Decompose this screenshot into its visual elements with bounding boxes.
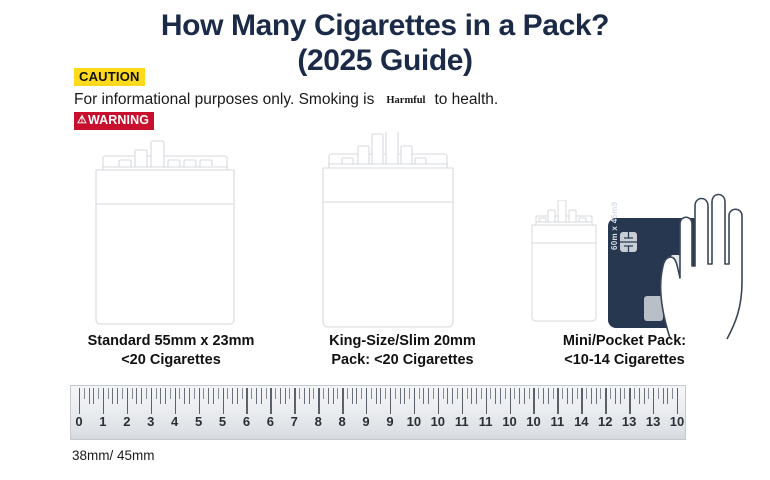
ruler-tick-minor [132,388,133,399]
ruler-tick-minor [447,388,448,404]
ruler-tick-major [223,388,224,414]
ruler-tick-minor [419,388,420,399]
ruler-tick-minor [242,388,243,399]
ruler-tick-minor [481,388,482,399]
ruler-tick-label: 5 [195,414,202,429]
caption-king-size-line1: King-Size/Slim 20mm [290,332,515,351]
disclaimer-before: For informational purposes only. Smoking… [74,91,374,108]
ruler-tick-minor [112,388,113,404]
caption-standard: Standard 55mm x 23mm <20 Cigarettes [46,332,296,370]
ruler-tick-minor [184,388,185,404]
ruler-tick-minor [108,388,109,399]
ruler-tick-minor [213,388,214,404]
ruler-tick-minor [237,388,238,404]
ruler-tick-major [79,388,80,414]
ruler-tick-minor [586,388,587,399]
ruler-tick-minor [170,388,171,399]
warning-triangle-icon: ⚠ [77,115,87,126]
ruler-tick-major [605,388,606,414]
ruler-tick-minor [122,388,123,399]
ruler-tick-label: 10 [407,414,421,429]
caption-king-size-line2: Pack: <20 Cigarettes [290,351,515,370]
ruler-tick-minor [471,388,472,404]
ruler-tick-minor [596,388,597,404]
ruler-tick-minor [524,388,525,404]
ruler-tick-major [318,388,319,414]
ruler-tick-minor [409,388,410,399]
caption-mini-line2: <10-14 Cigarettes [512,351,737,370]
warning-badge: ⚠WARNING [74,112,154,130]
ruler-tick-minor [347,388,348,399]
ruler-tick-minor [361,388,362,399]
ruler-tick-minor [256,388,257,404]
ruler-tick-label: 1 [99,414,106,429]
caution-badge: CAUTION [74,68,145,86]
ruler-tick-minor [433,388,434,399]
ruler-tick-minor [313,388,314,399]
disclaimer-emphasis: Harmful [374,95,434,106]
ruler-tick-major [510,388,511,414]
ruler-tick-minor [452,388,453,404]
disclaimer-after: to health. [434,91,498,108]
ruler-tick-label: 9 [386,414,393,429]
ruler-tick-minor [667,388,668,404]
ruler-tick-label: 0 [75,414,82,429]
ruler-tick-minor [663,388,664,404]
ruler-tick-label: 8 [338,414,345,429]
ruler-tick-major [557,388,558,414]
ruler-tick-major [462,388,463,414]
ruler-tick-major [294,388,295,414]
ruler-tick-minor [189,388,190,404]
ruler-tick-minor [538,388,539,399]
ruler-unit-note: 38mm/ 45mm [72,448,155,463]
ruler-tick-minor [299,388,300,399]
ruler-tick-minor [620,388,621,404]
ruler-tick-minor [672,388,673,399]
ruler-tick-minor [141,388,142,404]
ruler-tick-major [270,388,271,414]
ruler-tick-major [677,388,678,414]
ruler-tick-minor [648,388,649,399]
ruler-tick-label: 5 [219,414,226,429]
ruler-tick-minor [309,388,310,404]
ruler-tick-minor [117,388,118,404]
ruler-tick-label: 4 [171,414,178,429]
pack-illustration-standard [84,140,246,335]
ruler-tick-major [414,388,415,414]
ruler-tick-label: 14 [574,414,588,429]
ruler-tick-major [246,388,247,414]
ruler-tick-minor [404,388,405,404]
ruler-tick-minor [352,388,353,404]
ruler-tick-minor [266,388,267,399]
ruler-tick-minor [615,388,616,404]
ruler-tick-minor [423,388,424,404]
ruler-tick-minor [89,388,90,404]
ruler-tick-minor [505,388,506,399]
ruler-tick-major [533,388,534,414]
ruler-tick-minor [500,388,501,404]
ruler-tick-label: 7 [291,414,298,429]
ruler-tick-label: 10 [502,414,516,429]
ruler-tick-major [581,388,582,414]
ruler-tick-minor [208,388,209,404]
ruler-tick-minor [553,388,554,399]
ruler-tick-minor [261,388,262,404]
ruler-tick-minor [376,388,377,404]
ruler-tick-minor [600,388,601,399]
ruler-tick-major [342,388,343,414]
ruler-tick-minor [275,388,276,399]
ruler-tick-minor [610,388,611,399]
ruler-tick-major [127,388,128,414]
ruler-tick-major [175,388,176,414]
ruler-tick-minor [591,388,592,404]
ruler-tick-minor [567,388,568,404]
ruler-tick-label: 11 [479,414,493,429]
pack-illustration-king-size [318,132,458,337]
ruler-tick-minor [304,388,305,404]
ruler-tick-minor [634,388,635,399]
ruler-tick-major [486,388,487,414]
ruler-tick-minor [160,388,161,404]
ruler-tick-label: 10 [431,414,445,429]
ruler-tick-minor [644,388,645,404]
ruler-tick-label: 6 [267,414,274,429]
ruler-tick-minor [443,388,444,399]
ruler-tick-major [103,388,104,414]
ruler-tick-minor [194,388,195,399]
ruler-tick-minor [356,388,357,404]
caption-standard-line2: <20 Cigarettes [46,351,296,370]
ruler-tick-major [366,388,367,414]
ruler-tick-label: 8 [315,414,322,429]
ruler-tick-major [151,388,152,414]
disclaimer-text: For informational purposes only. Smoking… [74,90,498,110]
card-dimension-label: 60m x 45m9 [610,202,619,250]
ruler-tick-label: 3 [147,414,154,429]
ruler-tick-minor [337,388,338,399]
ruler-tick-minor [165,388,166,404]
caption-standard-line1: Standard 55mm x 23mm [46,332,296,351]
ruler-tick-major [390,388,391,414]
ruler-tick-minor [371,388,372,399]
ruler-tick-major [653,388,654,414]
caption-king-size: King-Size/Slim 20mm Pack: <20 Cigarettes [290,332,515,370]
ruler-tick-minor [490,388,491,399]
ruler-tick-label: 12 [598,414,612,429]
ruler-tick-label: 10 [670,414,684,429]
ruler-tick-minor [251,388,252,399]
ruler-tick-minor [624,388,625,399]
infographic-page: How Many Cigarettes in a Pack? (2025 Gui… [0,0,770,480]
ruler-tick-minor [156,388,157,399]
ruler-tick-minor [323,388,324,399]
caption-mini-line1: Mini/Pocket Pack: [512,332,737,351]
ruler-tick-minor [218,388,219,399]
ruler-tick-minor [467,388,468,399]
ruler-tick-label: 11 [455,414,469,429]
ruler-tick-minor [519,388,520,404]
ruler-tick-minor [543,388,544,404]
ruler-tick-minor [333,388,334,404]
ruler-tick-minor [577,388,578,399]
title-line-1: How Many Cigarettes in a Pack? [0,8,770,43]
ruler-tick-minor [572,388,573,404]
ruler-tick-minor [529,388,530,399]
ruler-tick-label: 10 [526,414,540,429]
ruler-tick-minor [562,388,563,399]
ruler-tick-minor [548,388,549,404]
ruler-tick-minor [136,388,137,404]
ruler-tick-major [629,388,630,414]
ruler-tick-label: 9 [362,414,369,429]
ruler-tick-minor [285,388,286,404]
warning-badge-label: WARNING [88,113,149,128]
ruler-tick-minor [495,388,496,404]
ruler-tick-minor [385,388,386,399]
ruler-tick-minor [457,388,458,399]
caption-mini: Mini/Pocket Pack: <10-14 Cigarettes [512,332,737,370]
ruler-tick-label: 11 [551,414,565,429]
ruler-tick-major [199,388,200,414]
ruler-tick-minor [289,388,290,399]
ruler-tick-label: 2 [123,414,130,429]
ruler-tick-label: 6 [243,414,250,429]
ruler-tick-minor [639,388,640,404]
ruler-tick-minor [328,388,329,404]
ruler-tick-minor [84,388,85,399]
ruler-tick-major [438,388,439,414]
pack-illustration-mini [528,200,600,327]
ruler-tick-minor [395,388,396,399]
ruler-tick-minor [227,388,228,399]
ruler-tick-minor [514,388,515,399]
ruler-tick-minor [380,388,381,404]
ruler-tick-minor [146,388,147,399]
ruler-tick-minor [93,388,94,404]
ruler-tick-minor [400,388,401,404]
ruler-tick-minor [280,388,281,404]
ruler-tick-minor [232,388,233,404]
ruler-scale: 01234556678899101011111010111412131310 [70,385,686,440]
ruler-tick-label: 13 [646,414,660,429]
ruler-tick-minor [203,388,204,399]
ruler-tick-minor [179,388,180,399]
ruler-tick-minor [428,388,429,404]
ruler-tick-minor [658,388,659,399]
ruler-tick-minor [98,388,99,399]
ruler-tick-label: 13 [622,414,636,429]
ruler-tick-minor [476,388,477,404]
hand-outline-icon [655,190,770,345]
